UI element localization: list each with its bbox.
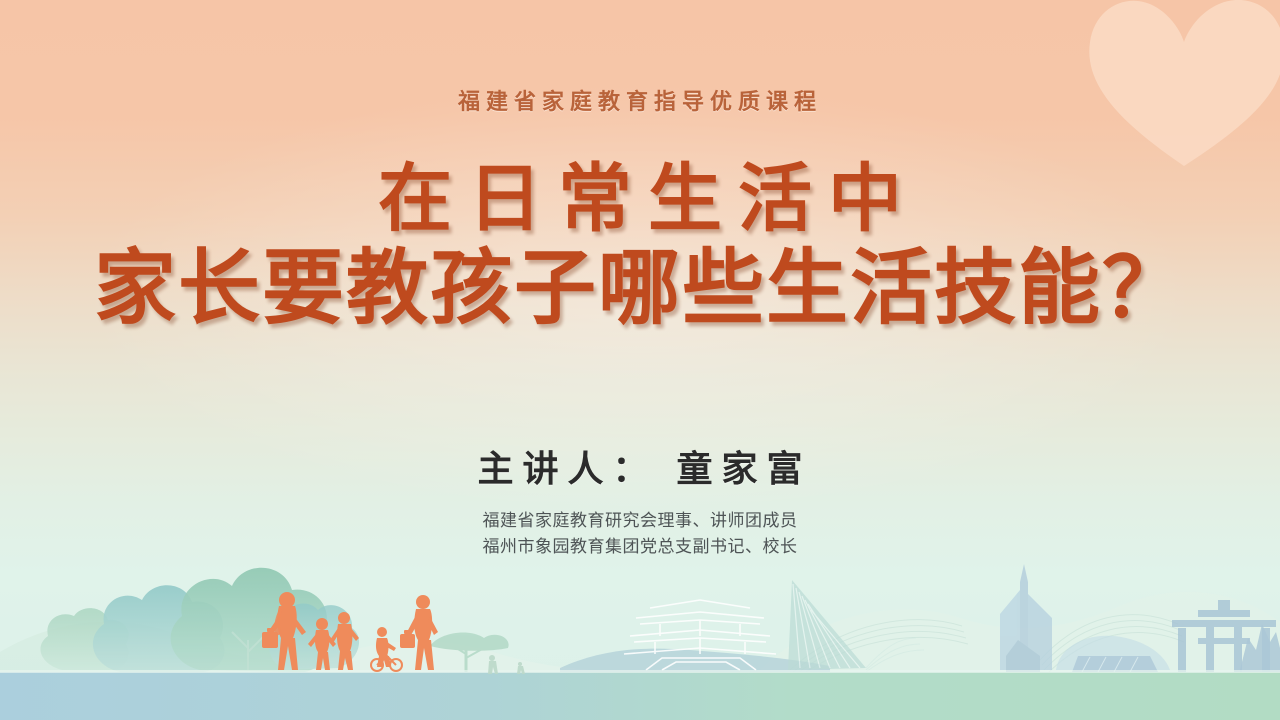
presentation-slide: 福建省家庭教育指导优质课程 在日常生活中 家长要教孩子哪些生活技能？ 主讲人： … bbox=[0, 0, 1280, 720]
credential-line-1: 福建省家庭教育研究会理事、讲师团成员 bbox=[0, 508, 1280, 534]
title-line-2: 家长要教孩子哪些生活技能？ bbox=[0, 246, 1280, 333]
page-title: 在日常生活中 家长要教孩子哪些生活技能？ bbox=[0, 160, 1280, 333]
title-line-1: 在日常生活中 bbox=[0, 160, 1280, 238]
course-program-label: 福建省家庭教育指导优质课程 bbox=[0, 84, 1280, 116]
credential-line-2: 福州市象园教育集团党总支副书记、校长 bbox=[0, 534, 1280, 560]
speaker-name: 主讲人： 童家富 bbox=[0, 440, 1280, 492]
speaker-credentials: 福建省家庭教育研究会理事、讲师团成员 福州市象园教育集团党总支副书记、校长 bbox=[0, 508, 1280, 560]
